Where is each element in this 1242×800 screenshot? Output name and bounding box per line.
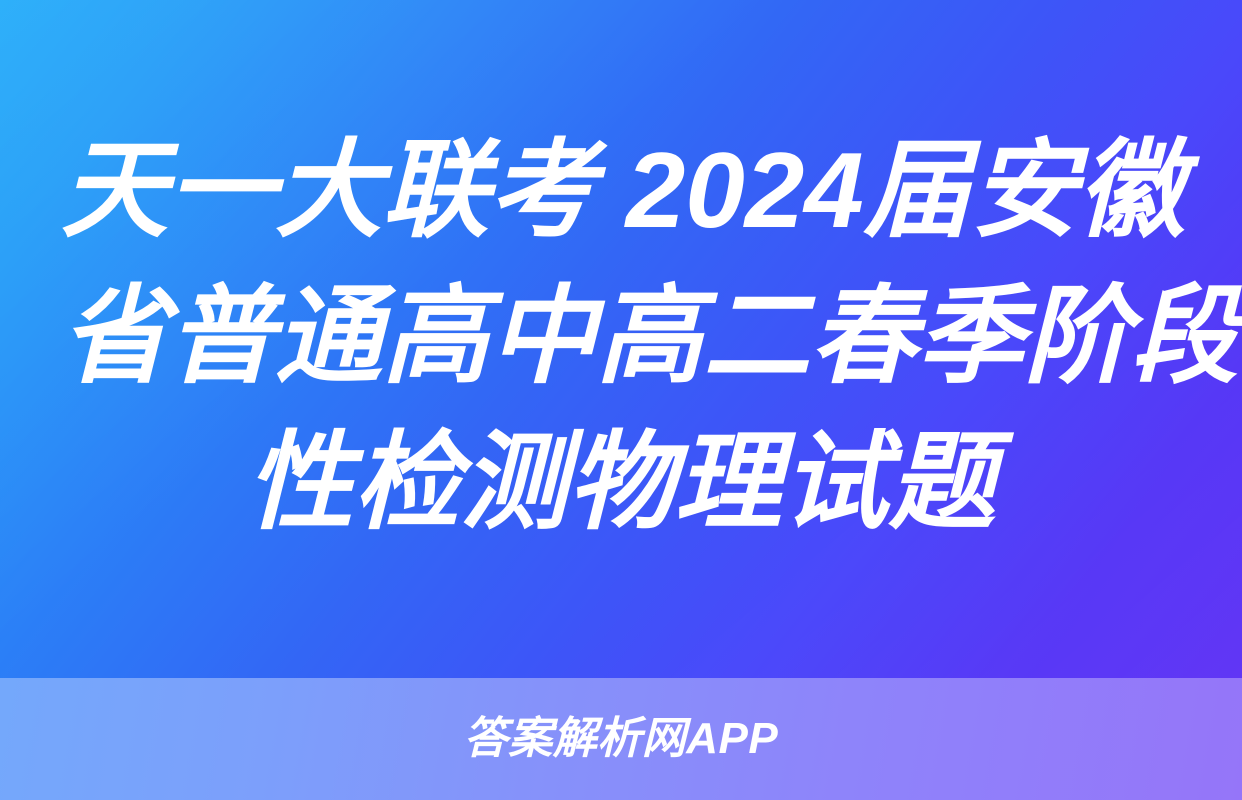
title-line-1: 天一大联考 2024届安徽 bbox=[61, 117, 1181, 263]
footer-watermark-band: 答案解析网APP bbox=[0, 678, 1242, 800]
hero-gradient-panel: 天一大联考 2024届安徽 省普通高中高二春季阶段 性检测物理试题 bbox=[0, 0, 1242, 678]
page-title: 天一大联考 2024届安徽 省普通高中高二春季阶段 性检测物理试题 bbox=[61, 117, 1181, 561]
watermark-brand-label: 答案解析网APP bbox=[464, 717, 778, 761]
title-line-3: 性检测物理试题 bbox=[61, 409, 1181, 555]
exam-paper-cover-poster: 天一大联考 2024届安徽 省普通高中高二春季阶段 性检测物理试题 答案解析网A… bbox=[0, 0, 1242, 800]
title-line-2: 省普通高中高二春季阶段 bbox=[61, 263, 1181, 409]
